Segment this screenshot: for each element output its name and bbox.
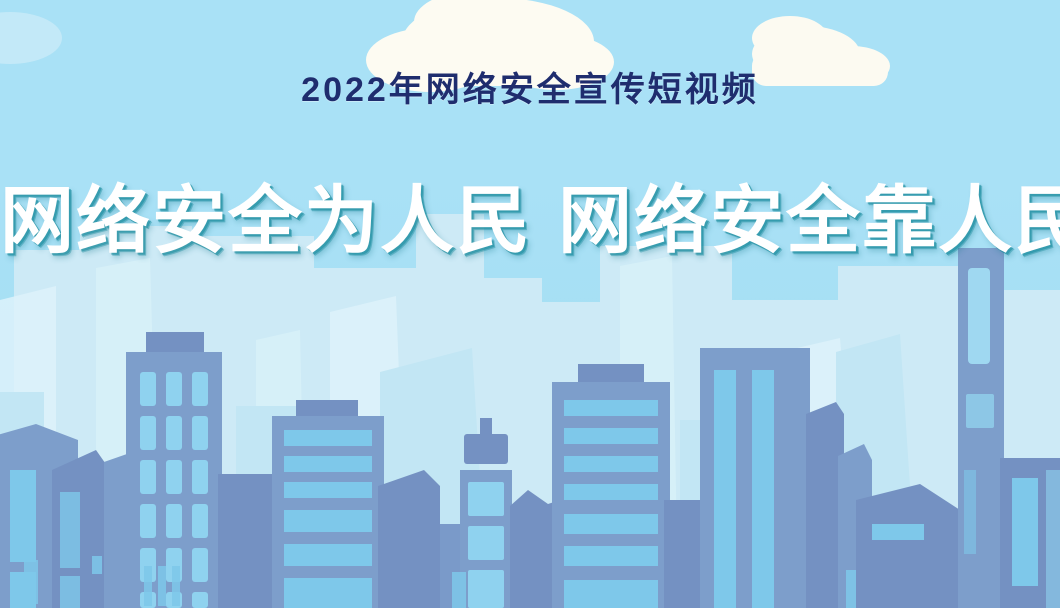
tower-slim-tall — [958, 248, 1004, 608]
block-center-left — [218, 474, 278, 608]
tower-left-small — [52, 450, 110, 608]
tower-bands-left — [272, 400, 384, 608]
poster-subtitle: 2022年网络安全宣传短视频 — [0, 62, 1060, 111]
block-far-right — [1000, 458, 1060, 608]
tower-twin — [700, 348, 810, 608]
tower-antenna-mast — [480, 418, 492, 436]
poster-canvas: 2022年网络安全宣传短视频 网络安全为人民网络安全靠人民 — [0, 0, 1060, 608]
tower-bands-right — [552, 364, 670, 608]
tower-antenna-cap — [464, 434, 508, 464]
block-mid — [378, 470, 440, 608]
poster-title: 网络安全为人民网络安全靠人民 — [0, 161, 1060, 268]
poster-title-part2: 网络安全靠人民 — [558, 179, 1060, 262]
block-wide-right — [856, 484, 960, 608]
poster-title-part1: 网络安全为人民 — [0, 179, 532, 262]
tower-antenna-body — [460, 470, 512, 608]
